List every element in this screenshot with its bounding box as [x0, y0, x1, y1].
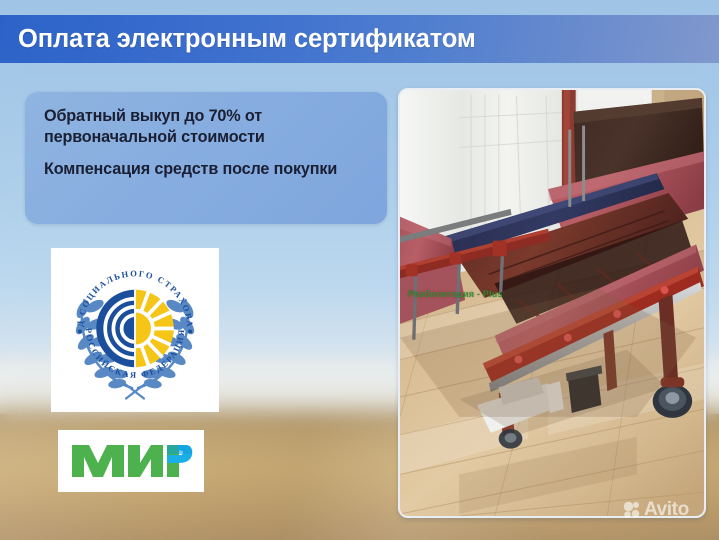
avito-brand-text: Avito [644, 500, 689, 519]
avito-watermark: Avito [623, 500, 689, 519]
benefit-item-compensation: Компенсация средств после покупки [44, 159, 371, 180]
fss-logo: ФОНД СОЦИАЛЬНОГО СТРАХОВАНИЯ РОССИЙСКАЯ … [60, 257, 210, 403]
fss-logo-card: ФОНД СОЦИАЛЬНОГО СТРАХОВАНИЯ РОССИЙСКАЯ … [51, 248, 219, 412]
avito-dots-icon [623, 501, 640, 518]
benefits-card: Обратный выкуп до 70% от первоначальной … [25, 92, 387, 224]
product-photo-image [400, 90, 704, 516]
header-banner: Оплата электронным сертификатом [0, 15, 719, 63]
page-title: Оплата электронным сертификатом [18, 25, 476, 54]
product-photo-frame: Реабилитация - Plus [398, 88, 706, 518]
slide-canvas: Оплата электронным сертификатом Обратный… [0, 0, 719, 540]
mir-logo-card [58, 430, 204, 492]
photo-watermark: Реабилитация - Plus [408, 289, 503, 299]
benefit-item-buyback: Обратный выкуп до 70% от первоначальной … [44, 106, 371, 147]
product-photo: Реабилитация - Plus [400, 90, 704, 516]
mir-logo [69, 441, 193, 481]
